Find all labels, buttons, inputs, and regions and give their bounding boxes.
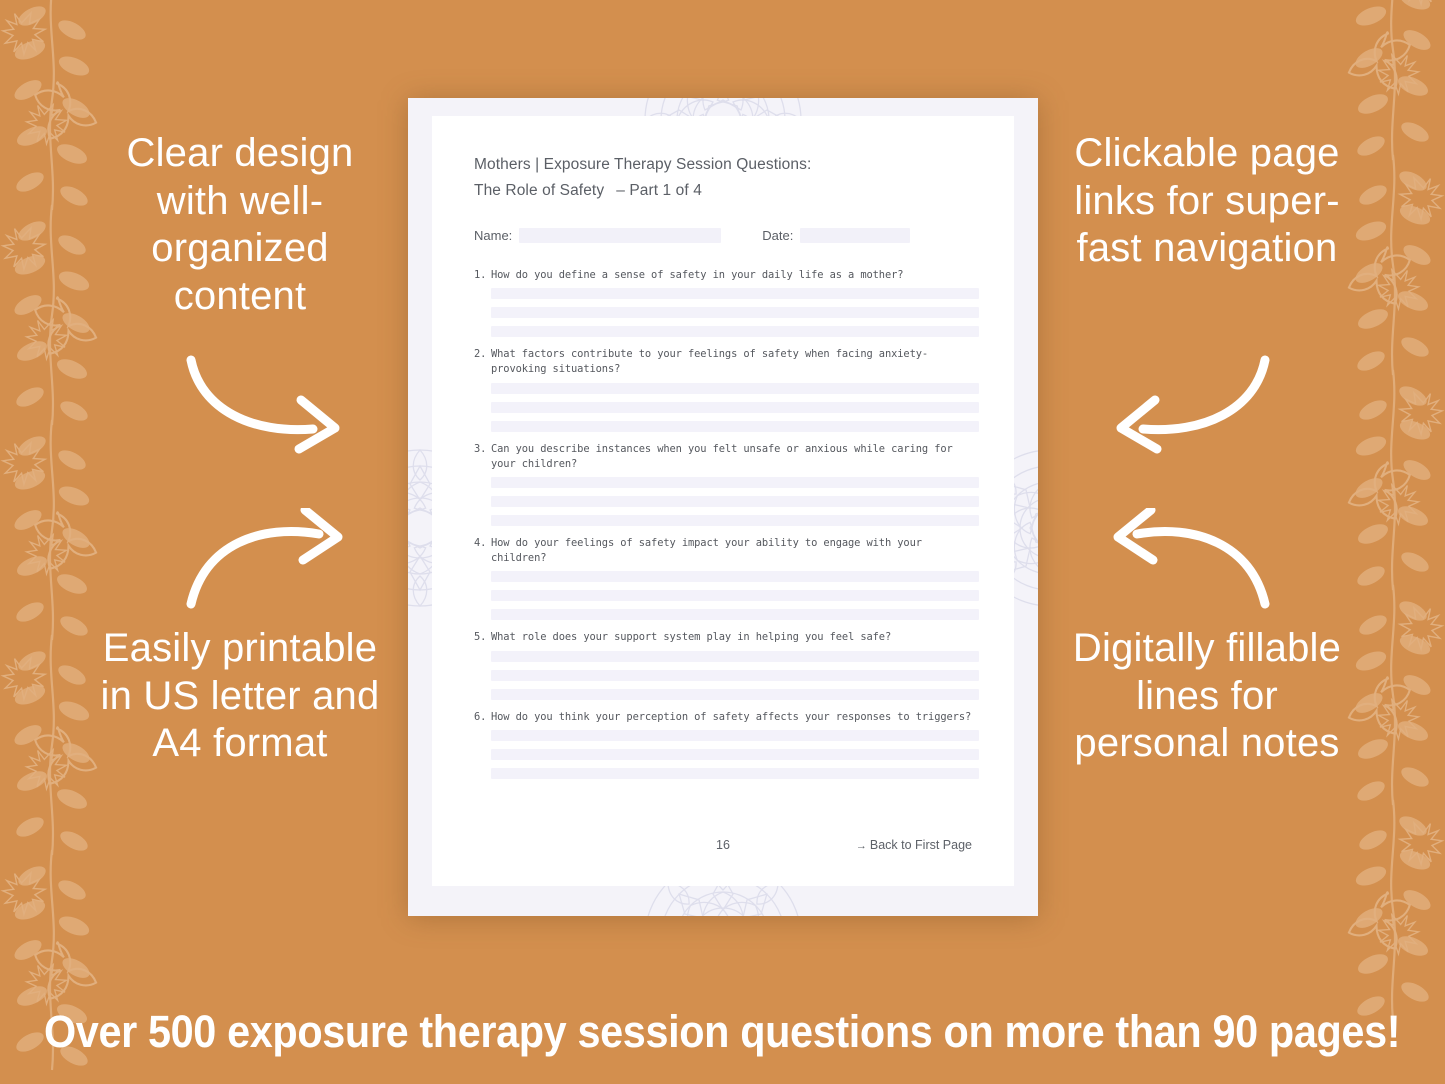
answer-lines	[474, 477, 979, 526]
date-input[interactable]	[800, 228, 910, 243]
question-number: 3.	[474, 442, 491, 472]
worksheet-part-label: – Part 1 of 4	[616, 182, 702, 199]
worksheet-title: Mothers | Exposure Therapy Session Quest…	[474, 152, 974, 204]
question-label: Can you describe instances when you felt…	[491, 442, 979, 472]
answer-lines	[474, 571, 979, 620]
answer-line[interactable]	[491, 571, 979, 582]
question-block: 6.How do you think your perception of sa…	[474, 710, 979, 779]
answer-line[interactable]	[491, 749, 979, 760]
question-block: 1.How do you define a sense of safety in…	[474, 268, 979, 337]
name-input[interactable]	[519, 228, 721, 243]
curved-arrow-right-icon	[183, 508, 358, 613]
answer-line[interactable]	[491, 670, 979, 681]
questions-list: 1.How do you define a sense of safety in…	[474, 268, 979, 789]
answer-line[interactable]	[491, 689, 979, 700]
name-label: Name:	[474, 228, 512, 243]
answer-line[interactable]	[491, 326, 979, 337]
question-number: 2.	[474, 347, 491, 377]
page-number: 16	[716, 838, 730, 852]
question-number: 6.	[474, 710, 491, 725]
answer-line[interactable]	[491, 515, 979, 526]
answer-line[interactable]	[491, 609, 979, 620]
name-date-row: Name: Date:	[474, 228, 910, 243]
worksheet-title-line2: The Role of Safety– Part 1 of 4	[474, 178, 974, 204]
date-label: Date:	[762, 228, 793, 243]
question-block: 5.What role does your support system pla…	[474, 630, 979, 699]
question-block: 3.Can you describe instances when you fe…	[474, 442, 979, 526]
question-label: How do your feelings of safety impact yo…	[491, 536, 979, 566]
answer-line[interactable]	[491, 477, 979, 488]
promo-fillable-lines: Digitally fillable lines for personal no…	[1062, 625, 1352, 768]
answer-line[interactable]	[491, 651, 979, 662]
answer-line[interactable]	[491, 768, 979, 779]
curved-arrow-left-icon	[1098, 508, 1273, 613]
promo-easily-printable: Easily printable in US letter and A4 for…	[95, 625, 385, 768]
answer-line[interactable]	[491, 402, 979, 413]
question-text-row: 3.Can you describe instances when you fe…	[474, 442, 979, 472]
curved-arrow-left-icon	[1098, 352, 1273, 457]
question-label: What factors contribute to your feelings…	[491, 347, 979, 377]
bottom-banner-text: Over 500 exposure therapy session questi…	[44, 1006, 1400, 1058]
question-block: 4.How do your feelings of safety impact …	[474, 536, 979, 620]
back-to-first-page-link[interactable]: →Back to First Page	[856, 838, 972, 852]
question-block: 2.What factors contribute to your feelin…	[474, 347, 979, 431]
answer-line[interactable]	[491, 288, 979, 299]
promo-clear-design: Clear design with well-organized content	[95, 130, 385, 320]
answer-line[interactable]	[491, 730, 979, 741]
question-text-row: 2.What factors contribute to your feelin…	[474, 347, 979, 377]
question-text-row: 4.How do your feelings of safety impact …	[474, 536, 979, 566]
question-label: What role does your support system play …	[491, 630, 979, 645]
answer-line[interactable]	[491, 590, 979, 601]
answer-lines	[474, 730, 979, 779]
answer-line[interactable]	[491, 307, 979, 318]
question-text-row: 6.How do you think your perception of sa…	[474, 710, 979, 725]
question-label: How do you think your perception of safe…	[491, 710, 979, 725]
worksheet-footer: 16 →Back to First Page	[474, 838, 972, 852]
back-to-first-page-label: Back to First Page	[870, 838, 972, 852]
answer-lines	[474, 383, 979, 432]
answer-lines	[474, 288, 979, 337]
arrow-right-icon: →	[856, 840, 867, 852]
answer-lines	[474, 651, 979, 700]
answer-line[interactable]	[491, 421, 979, 432]
bottom-banner: Over 500 exposure therapy session questi…	[0, 980, 1445, 1084]
question-number: 4.	[474, 536, 491, 566]
worksheet-card: Mothers | Exposure Therapy Session Quest…	[432, 116, 1014, 886]
question-text-row: 5.What role does your support system pla…	[474, 630, 979, 645]
promo-clickable-links: Clickable page links for super-fast navi…	[1062, 130, 1352, 273]
worksheet-title-line1: Mothers | Exposure Therapy Session Quest…	[474, 152, 974, 178]
answer-line[interactable]	[491, 496, 979, 507]
question-number: 5.	[474, 630, 491, 645]
worksheet-page: Mothers | Exposure Therapy Session Quest…	[408, 98, 1038, 916]
answer-line[interactable]	[491, 383, 979, 394]
curved-arrow-right-icon	[183, 352, 358, 457]
worksheet-subtitle: The Role of Safety	[474, 182, 604, 199]
question-text-row: 1.How do you define a sense of safety in…	[474, 268, 979, 283]
question-label: How do you define a sense of safety in y…	[491, 268, 979, 283]
question-number: 1.	[474, 268, 491, 283]
